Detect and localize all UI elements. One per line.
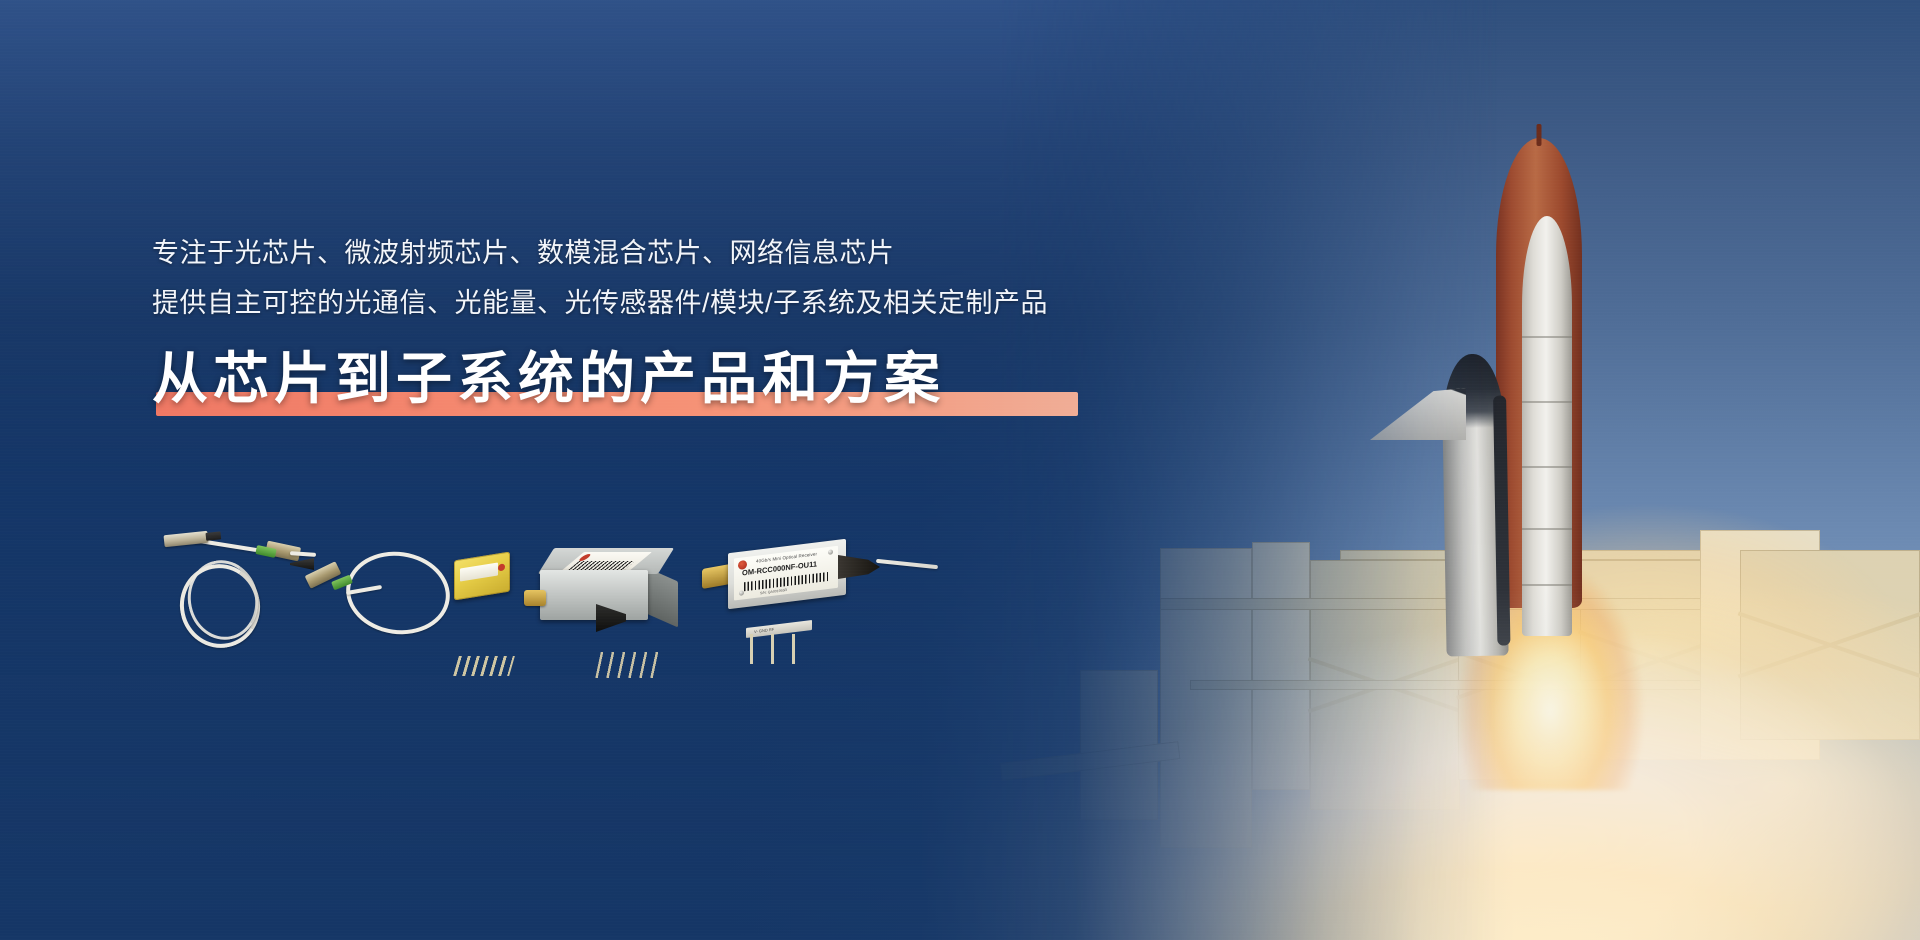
butterfly-pins-icon — [453, 656, 515, 676]
receiver-body: 40Gb/s Mini Optical Receiver OM-RCC000NF… — [728, 539, 846, 609]
fiber-boot-icon — [838, 554, 880, 580]
product-showcase: 40Gb/s Mini Optical Receiver OM-RCC000NF… — [150, 528, 1150, 678]
hero-content: 专注于光芯片、微波射频芯片、数模混合芯片、网络信息芯片 提供自主可控的光通信、光… — [152, 228, 1152, 428]
product-fiber-patch-cord — [158, 528, 318, 658]
blue-overlay-vertical — [0, 0, 1920, 940]
hero-subline-2: 提供自主可控的光通信、光能量、光传感器件/模块/子系统及相关定制产品 — [152, 278, 1152, 328]
butterfly-package-icon — [454, 552, 510, 601]
lc-connector-icon — [163, 531, 208, 548]
product-butterfly-laser-module — [306, 542, 510, 660]
receiver-label: 40Gb/s Mini Optical Receiver OM-RCC000NF… — [734, 546, 838, 601]
hero-subline-1: 专注于光芯片、微波射频芯片、数模混合芯片、网络信息芯片 — [152, 228, 1152, 278]
product-rf-metal-module — [540, 548, 682, 658]
product-optical-receiver: 40Gb/s Mini Optical Receiver OM-RCC000NF… — [706, 538, 936, 656]
module-pins-icon — [595, 652, 663, 678]
receiver-fiber-pigtail — [876, 559, 938, 569]
hero-banner: 专注于光芯片、微波射频芯片、数模混合芯片、网络信息芯片 提供自主可控的光通信、光… — [0, 0, 1920, 940]
receiver-pin-labels: V- GND RF — [754, 627, 774, 634]
sma-connector-icon — [524, 590, 546, 606]
receiver-label-line3: S/N: QA001955R — [760, 588, 787, 595]
hero-headline: 从芯片到子系统的产品和方案 — [152, 342, 1152, 416]
hero-headline-wrap: 从芯片到子系统的产品和方案 — [152, 342, 1152, 428]
receiver-pins-icon — [750, 634, 808, 664]
